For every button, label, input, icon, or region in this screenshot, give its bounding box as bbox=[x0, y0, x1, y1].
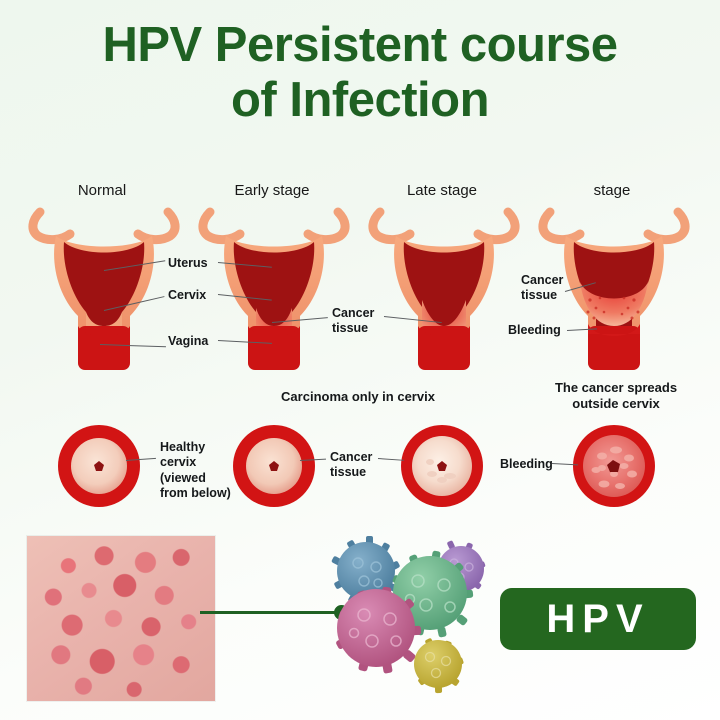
leader-bleeding-circle bbox=[552, 463, 578, 465]
cervix-view-healthy bbox=[57, 424, 141, 508]
label-uterus: Uterus bbox=[168, 256, 208, 271]
genital-warts-tissue-image bbox=[27, 536, 215, 701]
infographic-canvas: HPV Persistent course of Infection Norma… bbox=[0, 0, 720, 720]
hpv-badge-label: HPV bbox=[546, 597, 649, 642]
stage-label-advanced: stage bbox=[552, 182, 672, 199]
stage-label-early: Early stage bbox=[212, 182, 332, 199]
virus-pink bbox=[335, 586, 421, 673]
cervix-view-bleeding bbox=[572, 424, 656, 508]
title-line-2: of Infection bbox=[0, 73, 720, 128]
label-cervix: Cervix bbox=[168, 288, 206, 303]
label-cancer-tissue-middle: Cancer tissue bbox=[332, 306, 374, 337]
virus-yellow bbox=[414, 638, 464, 693]
cervix-view-early-cancer bbox=[232, 424, 316, 508]
uterus-diagram-late bbox=[356, 200, 532, 376]
label-bleeding-advanced: Bleeding bbox=[508, 323, 561, 338]
stage-label-late: Late stage bbox=[382, 182, 502, 199]
hpv-virus-cluster bbox=[320, 533, 500, 698]
hpv-badge: HPV bbox=[500, 588, 696, 650]
label-healthy-cervix: Healthy cervix (viewed from below) bbox=[160, 440, 231, 501]
caption-cancer-spreads: The cancer spreads outside cervix bbox=[521, 380, 711, 413]
caption-carcinoma-cervix: Carcinoma only in cervix bbox=[228, 389, 488, 405]
label-bleeding-circle: Bleeding bbox=[500, 457, 553, 472]
title-line-1: HPV Persistent course bbox=[102, 18, 617, 72]
cervix-view-late-cancer bbox=[400, 424, 484, 508]
uterus-diagram-early bbox=[186, 200, 362, 376]
uterus-diagram-normal bbox=[16, 200, 192, 376]
label-vagina: Vagina bbox=[168, 334, 208, 349]
stage-label-normal: Normal bbox=[42, 182, 162, 199]
label-cancer-tissue-advanced: Cancer tissue bbox=[521, 273, 563, 304]
label-cancer-tissue-circle: Cancer tissue bbox=[330, 450, 372, 481]
page-title: HPV Persistent course of Infection bbox=[0, 18, 720, 128]
